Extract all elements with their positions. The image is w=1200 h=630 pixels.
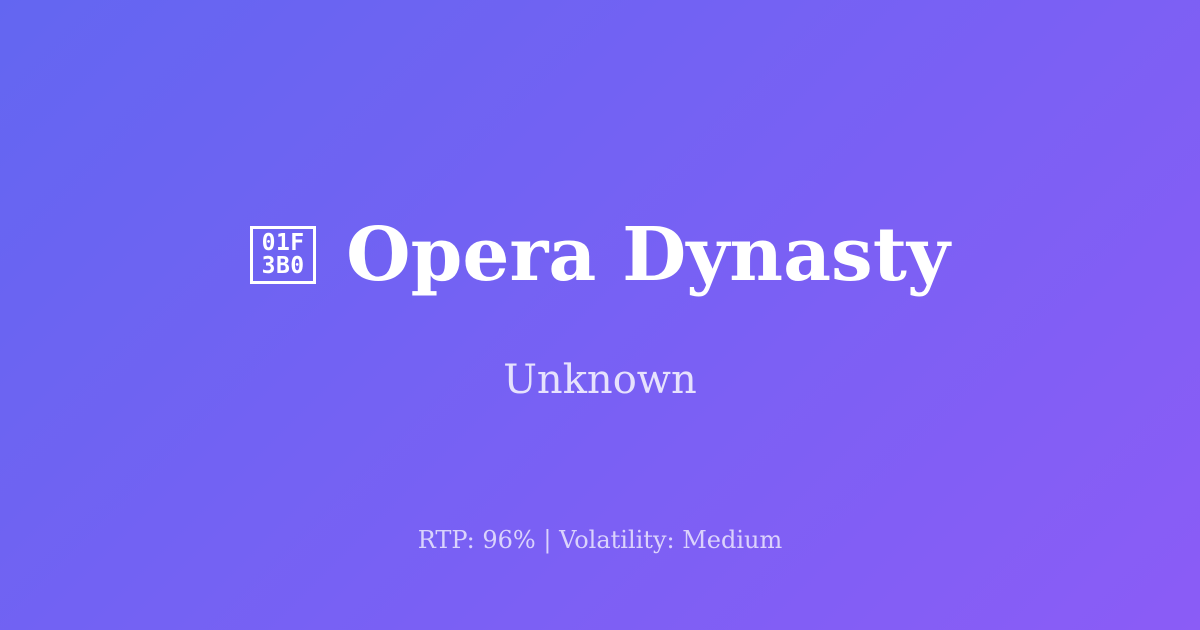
game-preview-card: 01F 3B0 Opera Dynasty Unknown RTP: 96% |… (0, 0, 1200, 630)
page-title: Opera Dynasty (346, 216, 950, 294)
title-row: 01F 3B0 Opera Dynasty (210, 166, 990, 344)
tofu-codepoint-bottom: 3B0 (262, 255, 305, 278)
provider-subtitle: Unknown (503, 356, 697, 404)
slot-machine-icon: 01F 3B0 (250, 226, 316, 284)
game-stats-line: RTP: 96% | Volatility: Medium (0, 525, 1200, 556)
tofu-codepoint-top: 01F (262, 232, 305, 255)
